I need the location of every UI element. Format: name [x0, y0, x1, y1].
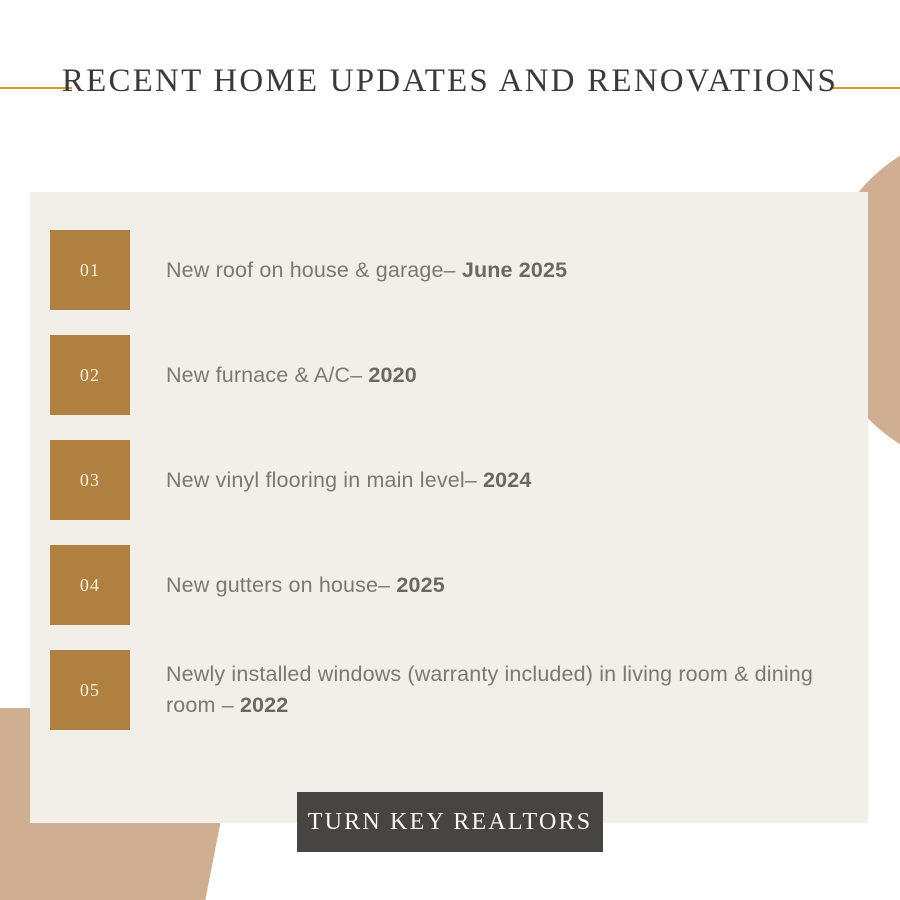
list-item-number: 04 [80, 576, 100, 594]
list-item-emphasis: 2025 [396, 573, 444, 597]
list-item-emphasis: June 2025 [462, 258, 567, 282]
list-item: 05 Newly installed windows (warranty inc… [50, 650, 850, 755]
list-item-number-badge: 04 [50, 545, 130, 625]
list-item-separator: – [378, 573, 390, 597]
updates-list: 01 New roof on house & garage– June 2025… [50, 230, 850, 755]
list-item: 02 New furnace & A/C– 2020 [50, 335, 850, 440]
list-item-number-badge: 02 [50, 335, 130, 415]
list-item-separator: – [444, 258, 456, 282]
list-item: 04 New gutters on house– 2025 [50, 545, 850, 650]
list-item-separator: – [465, 468, 477, 492]
list-item-text: Newly installed windows (warranty includ… [166, 650, 838, 730]
brand-badge-label: Turn Key Realtors [308, 809, 593, 836]
list-item-number-badge: 03 [50, 440, 130, 520]
list-item-body: New vinyl flooring in main level [166, 468, 465, 492]
list-item-number: 01 [80, 261, 100, 279]
list-item-number-badge: 01 [50, 230, 130, 310]
list-item-body: New gutters on house [166, 573, 378, 597]
page-title-text: Recent Home Updates and Renovations [0, 62, 900, 101]
list-item-text: New furnace & A/C– 2020 [166, 335, 838, 415]
list-item-number: 05 [80, 681, 100, 699]
poster-canvas: Recent Home Updates and Renovations 01 N… [0, 0, 900, 900]
list-item-emphasis: 2020 [368, 363, 416, 387]
list-item: 03 New vinyl flooring in main level– 202… [50, 440, 850, 545]
list-item-body: New furnace & A/C [166, 363, 350, 387]
updates-card: 01 New roof on house & garage– June 2025… [30, 192, 868, 823]
list-item-number: 02 [80, 366, 100, 384]
list-item-separator: – [350, 363, 362, 387]
list-item-number-badge: 05 [50, 650, 130, 730]
list-item: 01 New roof on house & garage– June 2025 [50, 230, 850, 335]
list-item-text: New roof on house & garage– June 2025 [166, 230, 838, 310]
page-title: Recent Home Updates and Renovations [0, 62, 900, 101]
brand-badge[interactable]: Turn Key Realtors [297, 792, 603, 852]
list-item-emphasis: 2024 [483, 468, 531, 492]
list-item-separator: – [222, 693, 234, 717]
list-item-text: New vinyl flooring in main level– 2024 [166, 440, 838, 520]
list-item-body: New roof on house & garage [166, 258, 444, 282]
list-item-text: New gutters on house– 2025 [166, 545, 838, 625]
list-item-number: 03 [80, 471, 100, 489]
list-item-emphasis: 2022 [240, 693, 288, 717]
